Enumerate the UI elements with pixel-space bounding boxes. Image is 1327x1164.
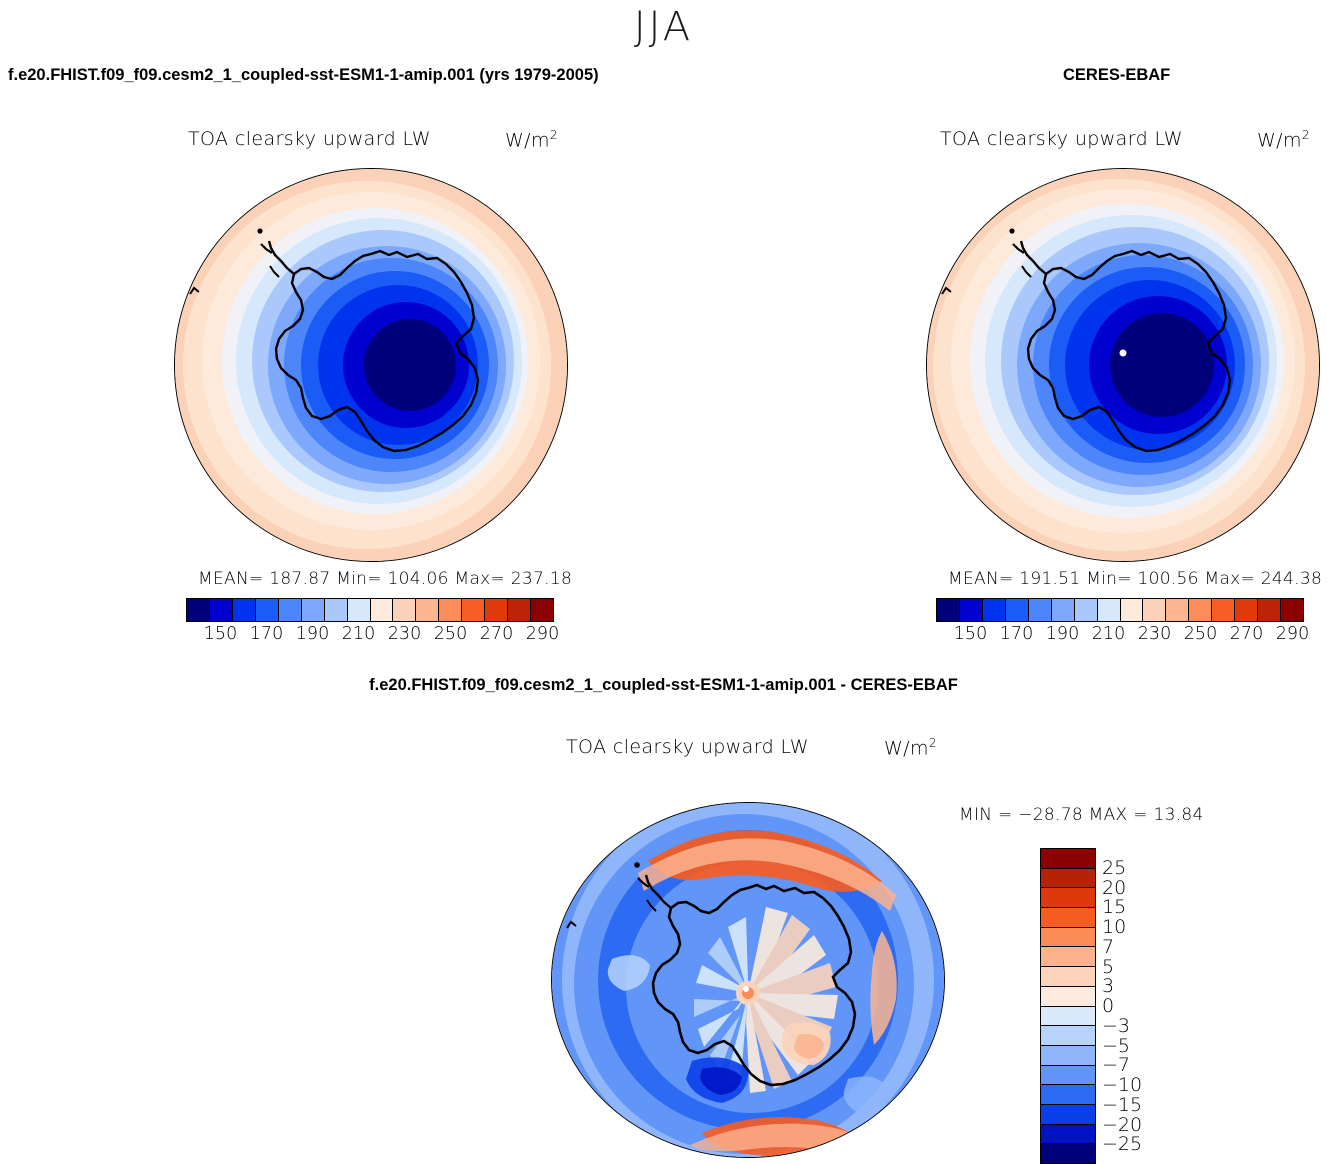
- model-units-text: W/m: [505, 129, 550, 151]
- colorbar-cell: [348, 599, 371, 621]
- colorbar-tick-label: 290: [526, 624, 559, 644]
- colorbar-cell: [1041, 1066, 1095, 1086]
- colorbar-cell: [210, 599, 233, 621]
- colorbar-cell: [1029, 599, 1052, 621]
- difference-units-label: W/m2: [884, 736, 937, 759]
- colorbar-cell: [1041, 1007, 1095, 1027]
- colorbar-tick-label: −3: [1102, 1015, 1130, 1037]
- colorbar-cell: [1258, 599, 1281, 621]
- colorbar-tick-label: 0: [1102, 995, 1114, 1017]
- colorbar-cell: [1041, 1125, 1095, 1145]
- difference-colorbar-labels: 252015107530−3−5−7−10−15−20−25: [1102, 848, 1174, 1164]
- obs-stats-line: MEAN= 191.51 Min= 100.56 Max= 244.38: [948, 569, 1322, 589]
- colorbar-cell: [302, 599, 325, 621]
- colorbar-tick-label: 290: [1276, 624, 1309, 644]
- colorbar-tick-label: −5: [1102, 1035, 1130, 1057]
- model-stats-line: MEAN= 187.87 Min= 104.06 Max= 237.18: [198, 569, 572, 589]
- colorbar-tick-label: 250: [434, 624, 467, 644]
- colorbar-cell: [1098, 599, 1121, 621]
- colorbar-cell: [1281, 599, 1303, 621]
- colorbar-tick-label: 15: [1102, 896, 1126, 918]
- colorbar-tick-label: 25: [1102, 857, 1126, 879]
- model-colorbar-cells: [186, 598, 554, 622]
- difference-case-header: f.e20.FHIST.f09_f09.cesm2_1_coupled-sst-…: [0, 676, 1327, 695]
- colorbar-cell: [325, 599, 348, 621]
- colorbar-tick-label: 5: [1102, 956, 1114, 978]
- colorbar-cell: [1189, 599, 1212, 621]
- colorbar-cell: [1041, 849, 1095, 869]
- colorbar-tick-label: 150: [204, 624, 237, 644]
- colorbar-tick-label: 150: [954, 624, 987, 644]
- colorbar-cell: [1041, 1026, 1095, 1046]
- difference-units-exponent: 2: [929, 736, 937, 750]
- obs-variable-label: TOA clearsky upward LW: [940, 128, 1183, 150]
- colorbar-tick-label: −10: [1102, 1074, 1142, 1096]
- colorbar-tick-label: 230: [1138, 624, 1171, 644]
- obs-polar-map: [926, 168, 1320, 562]
- colorbar-tick-label: 7: [1102, 936, 1114, 958]
- colorbar-tick-label: 170: [250, 624, 283, 644]
- difference-colorbar-cells: [1040, 848, 1096, 1164]
- colorbar-tick-label: 230: [388, 624, 421, 644]
- antarctica-coastline: [927, 169, 1320, 562]
- colorbar-cell: [1041, 987, 1095, 1007]
- season-title: JJA: [0, 4, 1327, 50]
- model-colorbar: 150170190210230250270290: [186, 598, 554, 646]
- colorbar-cell: [233, 599, 256, 621]
- difference-polar-map: [551, 802, 945, 1158]
- colorbar-cell: [256, 599, 279, 621]
- model-polar-map: [174, 168, 568, 562]
- difference-minmax-line: MIN = −28.78 MAX = 13.84: [959, 805, 1204, 825]
- antarctica-coastline: [175, 169, 568, 562]
- obs-colorbar: 150170190210230250270290: [936, 598, 1304, 646]
- colorbar-cell: [1052, 599, 1075, 621]
- difference-field: [552, 803, 945, 1158]
- colorbar-tick-label: 210: [1092, 624, 1125, 644]
- colorbar-cell: [1041, 888, 1095, 908]
- colorbar-tick-label: 170: [1000, 624, 1033, 644]
- colorbar-cell: [1041, 1105, 1095, 1125]
- difference-units-text: W/m: [884, 737, 929, 759]
- obs-colorbar-cells: [936, 598, 1304, 622]
- obs-case-header: CERES-EBAF: [1063, 66, 1170, 85]
- model-units-exponent: 2: [550, 128, 558, 142]
- colorbar-cell: [960, 599, 983, 621]
- colorbar-cell: [1041, 1046, 1095, 1066]
- colorbar-cell: [462, 599, 485, 621]
- colorbar-tick-label: 10: [1102, 916, 1126, 938]
- obs-units-exponent: 2: [1302, 128, 1310, 142]
- colorbar-tick-label: −20: [1102, 1114, 1142, 1136]
- difference-colorbar: 252015107530−3−5−7−10−15−20−25: [1040, 848, 1096, 1164]
- colorbar-cell: [1121, 599, 1144, 621]
- colorbar-tick-label: 250: [1184, 624, 1217, 644]
- model-variable-label: TOA clearsky upward LW: [188, 128, 431, 150]
- colorbar-tick-label: 190: [296, 624, 329, 644]
- colorbar-cell: [1041, 1144, 1095, 1163]
- colorbar-cell: [416, 599, 439, 621]
- colorbar-tick-label: −15: [1102, 1094, 1142, 1116]
- colorbar-cell: [371, 599, 394, 621]
- colorbar-cell: [1143, 599, 1166, 621]
- colorbar-tick-label: 190: [1046, 624, 1079, 644]
- colorbar-cell: [439, 599, 462, 621]
- colorbar-cell: [1041, 869, 1095, 889]
- colorbar-cell: [1075, 599, 1098, 621]
- obs-units-label: W/m2: [1257, 128, 1310, 151]
- colorbar-tick-label: −25: [1102, 1133, 1142, 1155]
- colorbar-cell: [485, 599, 508, 621]
- colorbar-cell: [1006, 599, 1029, 621]
- colorbar-tick-label: 3: [1102, 975, 1114, 997]
- colorbar-cell: [1041, 947, 1095, 967]
- colorbar-cell: [1235, 599, 1258, 621]
- pole-missing-data-dot: [1120, 350, 1127, 357]
- colorbar-cell: [937, 599, 960, 621]
- colorbar-cell: [1166, 599, 1189, 621]
- colorbar-cell: [508, 599, 531, 621]
- colorbar-cell: [1041, 928, 1095, 948]
- model-units-label: W/m2: [505, 128, 558, 151]
- colorbar-cell: [187, 599, 210, 621]
- difference-variable-label: TOA clearsky upward LW: [566, 736, 809, 758]
- colorbar-cell: [1212, 599, 1235, 621]
- obs-colorbar-ticks: 150170190210230250270290: [936, 622, 1304, 646]
- colorbar-cell: [393, 599, 416, 621]
- colorbar-cell: [1041, 1085, 1095, 1105]
- colorbar-cell: [1041, 967, 1095, 987]
- model-case-header: f.e20.FHIST.f09_f09.cesm2_1_coupled-sst-…: [8, 66, 599, 85]
- colorbar-tick-label: 210: [342, 624, 375, 644]
- colorbar-tick-label: −7: [1102, 1054, 1130, 1076]
- colorbar-tick-label: 270: [480, 624, 513, 644]
- model-colorbar-ticks: 150170190210230250270290: [186, 622, 554, 646]
- colorbar-cell: [1041, 908, 1095, 928]
- colorbar-tick-label: 270: [1230, 624, 1263, 644]
- colorbar-tick-label: 20: [1102, 877, 1126, 899]
- obs-units-text: W/m: [1257, 129, 1302, 151]
- colorbar-cell: [531, 599, 553, 621]
- colorbar-cell: [983, 599, 1006, 621]
- colorbar-cell: [279, 599, 302, 621]
